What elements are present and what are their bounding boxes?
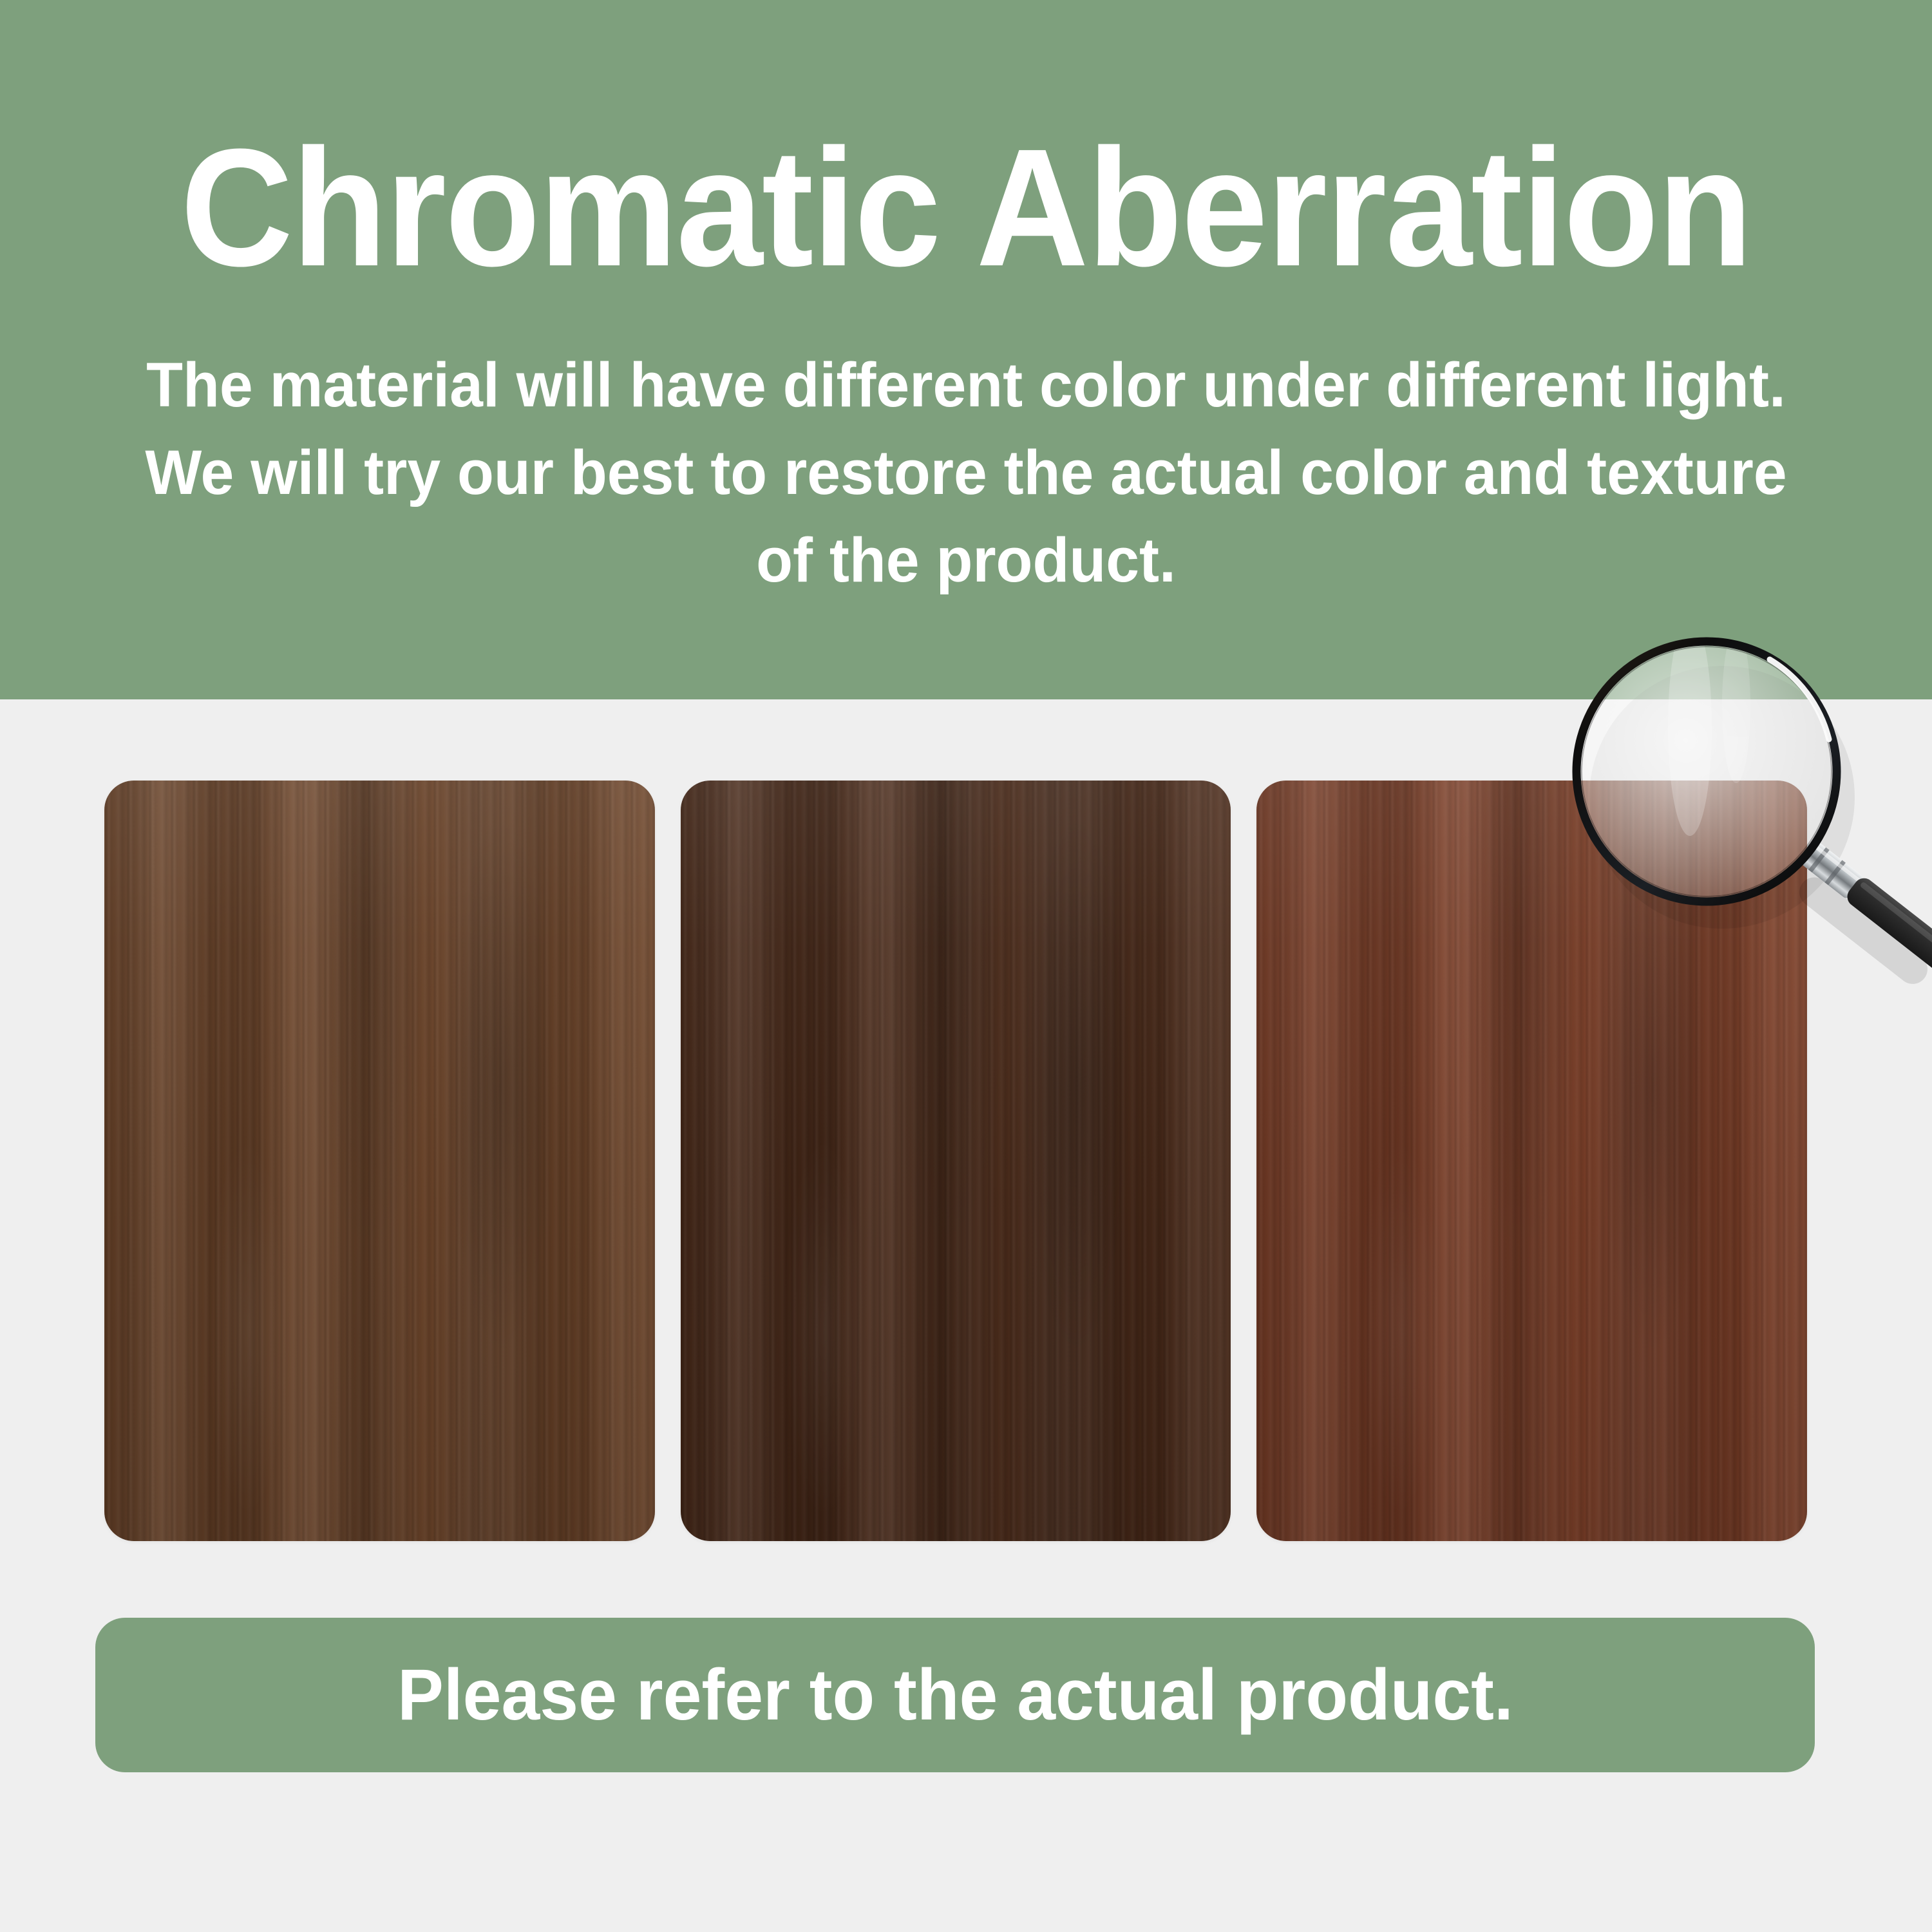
chromatic-aberration-infographic: Chromatic Aberration The material will h…: [0, 0, 1932, 1932]
page-subtitle: The material will have different color u…: [144, 341, 1788, 604]
wood-swatch-warm-mahogany[interactable]: [1256, 781, 1807, 1541]
wood-grain-sheen: [681, 781, 1231, 1541]
wood-grain-sheen: [104, 781, 655, 1541]
handle-shadow: [1794, 871, 1932, 990]
wood-swatch-row: [104, 781, 1807, 1541]
magnifier-handle: [1843, 874, 1932, 989]
wood-swatch-light-walnut[interactable]: [104, 781, 655, 1541]
page-title: Chromatic Aberration: [68, 128, 1864, 289]
footer-banner: Please refer to the actual product.: [95, 1618, 1815, 1772]
magnifier-ferrule: [1801, 841, 1865, 900]
footer-banner-text: Please refer to the actual product.: [397, 1656, 1513, 1734]
header-band: Chromatic Aberration The material will h…: [0, 0, 1932, 699]
wood-swatch-dark-espresso[interactable]: [681, 781, 1231, 1541]
wood-grain-sheen: [1256, 781, 1807, 1541]
